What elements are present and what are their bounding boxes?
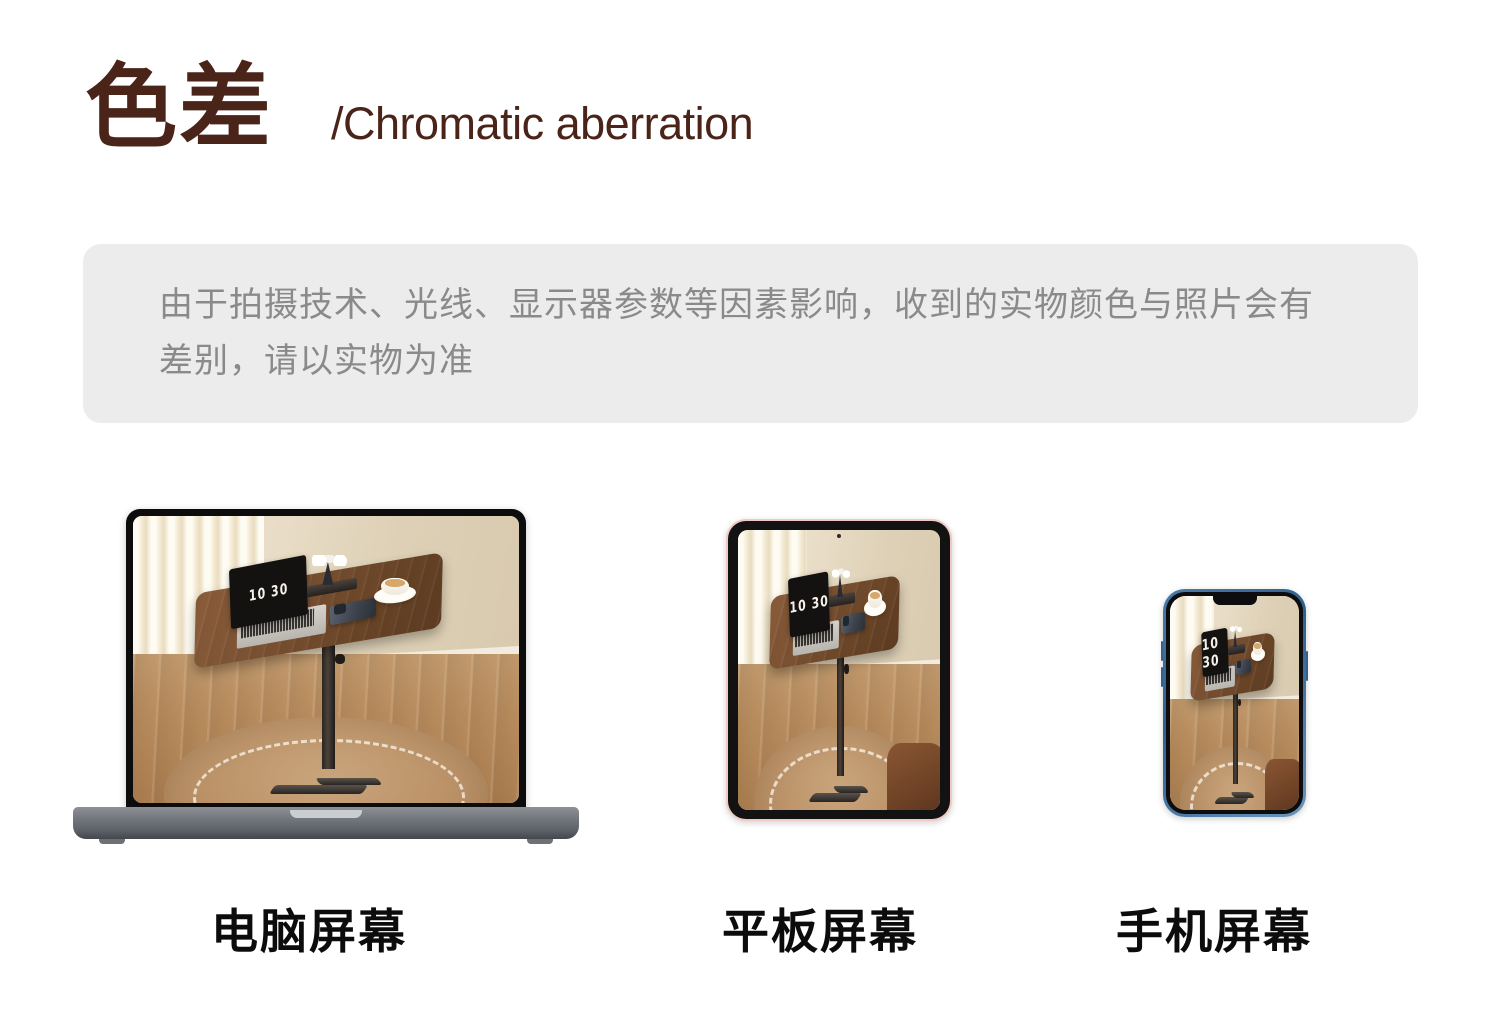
photo-height-knob <box>335 654 345 664</box>
photo-sofa <box>1265 759 1299 810</box>
laptop-lid-notch <box>290 810 362 818</box>
tablet-camera-icon <box>837 534 841 538</box>
disclaimer-box: 由于拍摄技术、光线、显示器参数等因素影响，收到的实物颜色与照片会有差别，请以实物… <box>83 244 1418 423</box>
photo-decor-flower <box>832 568 850 579</box>
device-mockup-row: 10 30 <box>0 495 1500 855</box>
disclaimer-text: 由于拍摄技术、光线、显示器参数等因素影响，收到的实物颜色与照片会有差别，请以实物… <box>83 278 1418 388</box>
photo-laptop-screen: 10 30 <box>1201 628 1228 678</box>
product-photo-scene: 10 30 <box>1170 596 1299 810</box>
photo-table-foot <box>1230 792 1255 798</box>
photo-table-foot <box>808 793 863 802</box>
laptop-screen-photo: 10 30 <box>133 516 519 803</box>
laptop-lid: 10 30 <box>126 509 526 811</box>
phone-volume-down-button[interactable] <box>1161 667 1163 687</box>
label-computer-screen: 电脑屏幕 <box>211 893 407 962</box>
photo-height-knob <box>1238 699 1241 707</box>
page-header: 色差 /Chromatic aberration <box>85 62 753 154</box>
photo-table-foot <box>1214 797 1250 804</box>
photo-table-foot <box>316 778 383 785</box>
photo-decor-flower <box>1230 625 1242 634</box>
photo-sofa <box>887 743 940 810</box>
photo-decor-flower <box>312 555 347 566</box>
tablet-bezel: 10 30 <box>728 521 950 819</box>
phone-screen-photo: 10 30 <box>1170 596 1299 810</box>
device-label-row: 电脑屏幕 平板屏幕 手机屏幕 <box>0 893 1500 957</box>
laptop-foot-right <box>527 839 553 844</box>
product-photo-scene: 10 30 <box>738 530 940 810</box>
product-photo-scene: 10 30 <box>133 516 519 803</box>
page-title: 色差 <box>85 62 273 154</box>
phone-power-button[interactable] <box>1306 651 1308 681</box>
phone-notch <box>1213 596 1257 605</box>
label-tablet-screen: 平板屏幕 <box>722 893 918 962</box>
photo-laptop-clock: 10 30 <box>1202 633 1229 673</box>
photo-smartphone-camera <box>843 615 849 626</box>
laptop-deck <box>73 807 579 839</box>
photo-table-foot <box>832 786 870 793</box>
photo-laptop-clock: 10 30 <box>789 592 829 617</box>
phone-bezel: 10 30 <box>1166 592 1303 814</box>
phone-mockup: 10 30 <box>1163 589 1306 817</box>
label-phone-screen: 手机屏幕 <box>1116 893 1312 962</box>
photo-table-foot <box>269 785 368 794</box>
laptop-foot-left <box>99 839 125 844</box>
tablet-screen-photo: 10 30 <box>738 530 940 810</box>
photo-smartphone-camera <box>334 603 346 615</box>
tablet-mockup: 10 30 <box>726 519 952 821</box>
photo-height-knob <box>844 664 849 674</box>
laptop-mockup: 10 30 <box>73 509 579 849</box>
photo-coffee-cup <box>868 590 883 607</box>
page-subtitle: /Chromatic aberration <box>331 101 753 154</box>
phone-volume-up-button[interactable] <box>1161 641 1163 661</box>
photo-laptop-clock: 10 30 <box>248 580 288 605</box>
photo-laptop-screen: 10 30 <box>787 571 829 637</box>
